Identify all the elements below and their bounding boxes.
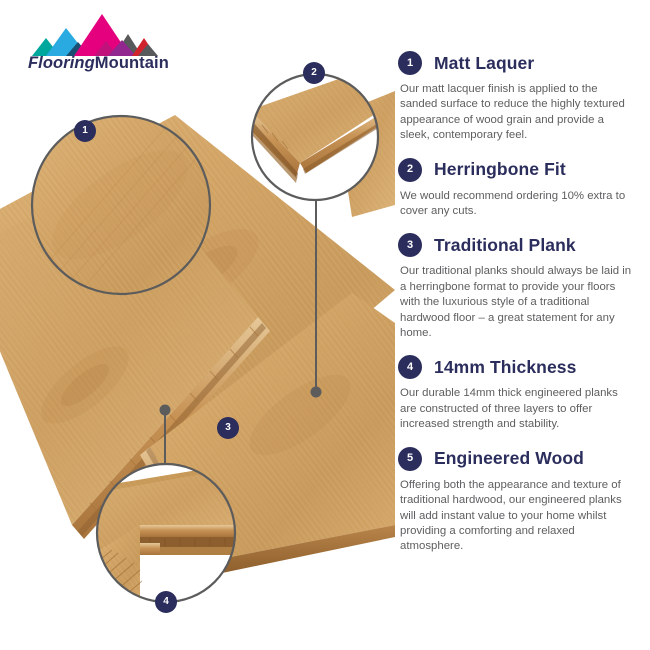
feature-body-1: Our matt lacquer finish is applied to th… [400,82,634,144]
feature-title-1: Matt Laquer [434,53,534,74]
feature-item-5: 5 Engineered Wood Offering both the appe… [398,446,640,555]
feature-badge-1: 1 [398,51,422,75]
feature-title-4: 14mm Thickness [434,357,576,378]
feature-heading-4: 4 14mm Thickness [398,354,640,380]
flooring-planks-illustration [0,55,395,650]
feature-badge-5: 5 [398,447,422,471]
image-badge-1[interactable]: 1 [74,120,96,142]
feature-body-5: Offering both the appearance and texture… [400,478,634,555]
feature-heading-1: 1 Matt Laquer [398,50,640,76]
features-panel: 1 Matt Laquer Our matt lacquer finish is… [398,50,640,568]
mountain-logo-icon [32,14,162,56]
feature-item-2: 2 Herringbone Fit We would recommend ord… [398,157,640,220]
feature-item-3: 3 Traditional Plank Our traditional plan… [398,232,640,341]
feature-title-2: Herringbone Fit [434,159,566,180]
image-badge-2[interactable]: 2 [303,62,325,84]
feature-badge-4: 4 [398,355,422,379]
feature-heading-5: 5 Engineered Wood [398,446,640,472]
feature-body-3: Our traditional planks should always be … [400,264,634,341]
image-badge-4[interactable]: 4 [155,591,177,613]
feature-body-4: Our durable 14mm thick engineered planks… [400,386,634,432]
feature-heading-3: 3 Traditional Plank [398,232,640,258]
feature-title-5: Engineered Wood [434,448,584,469]
feature-item-4: 4 14mm Thickness Our durable 14mm thick … [398,354,640,432]
feature-title-3: Traditional Plank [434,235,576,256]
feature-badge-3: 3 [398,233,422,257]
feature-heading-2: 2 Herringbone Fit [398,157,640,183]
image-badge-3[interactable]: 3 [217,417,239,439]
product-image: 1 2 3 4 [0,55,395,650]
infographic-root: FlooringMountain [0,0,650,650]
feature-badge-2: 2 [398,158,422,182]
feature-item-1: 1 Matt Laquer Our matt lacquer finish is… [398,50,640,144]
feature-body-2: We would recommend ordering 10% extra to… [400,189,634,220]
